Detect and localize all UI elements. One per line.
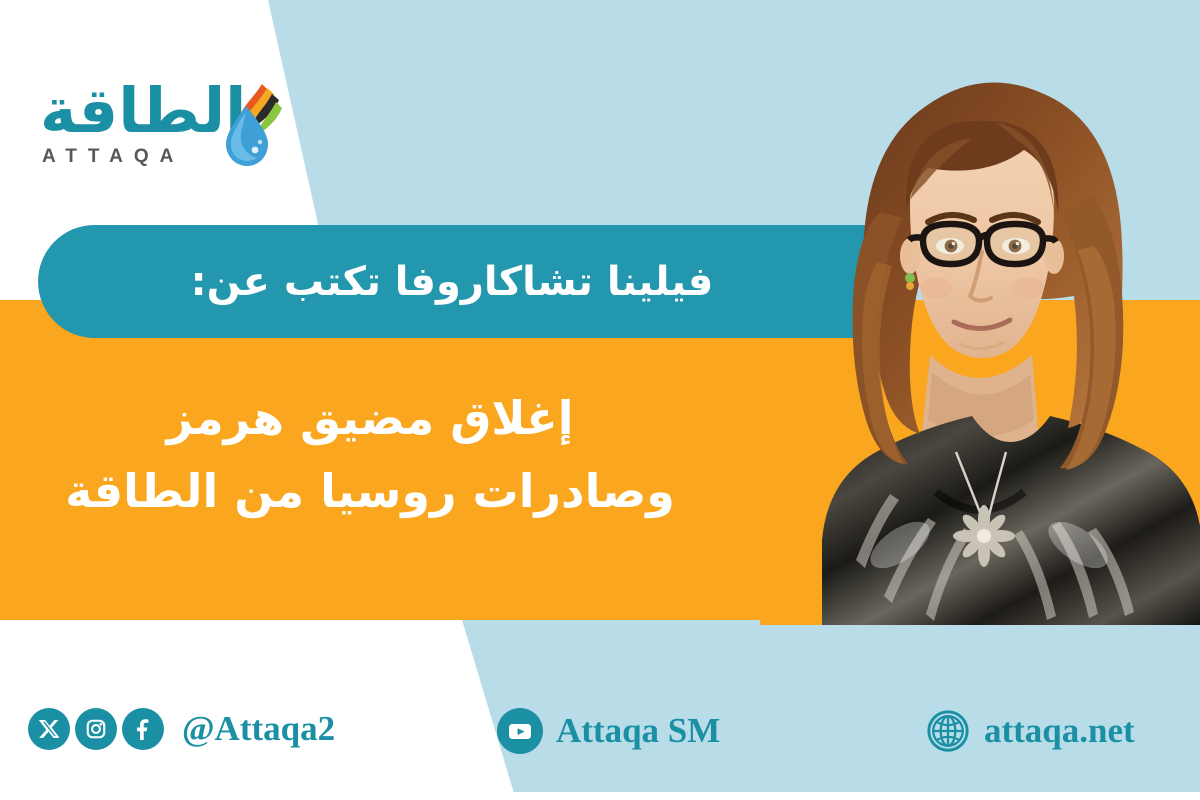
social-media-card: الطاقة ATTAQA فيلينا تشاكاروفا تكتب عن: …	[0, 0, 1200, 800]
logo-latin-subtitle: ATTAQA	[42, 146, 184, 168]
headline: إغلاق مضيق هرمز وصادرات روسيا من الطاقة	[40, 382, 700, 527]
headline-line-1: إغلاق مضيق هرمز	[40, 382, 700, 455]
footer-website-group[interactable]: attaqa.net	[925, 708, 1135, 754]
instagram-icon[interactable]	[75, 708, 117, 750]
portrait-photo	[760, 0, 1200, 625]
bottom-white-strip	[0, 792, 1200, 800]
facebook-glyph	[132, 718, 154, 740]
portrait-illustration	[760, 0, 1200, 625]
attaqa-logo[interactable]: الطاقة ATTAQA	[26, 78, 286, 178]
facebook-icon[interactable]	[122, 708, 164, 750]
youtube-icon[interactable]	[497, 708, 543, 754]
website-label[interactable]: attaqa.net	[984, 711, 1135, 751]
youtube-glyph	[506, 717, 534, 745]
instagram-glyph	[85, 718, 107, 740]
footer-youtube-group[interactable]: Attaqa SM	[497, 708, 720, 754]
x-twitter-glyph	[38, 718, 60, 740]
headline-line-2: وصادرات روسيا من الطاقة	[40, 455, 700, 528]
logo-arabic-wordmark: الطاقة	[40, 80, 246, 142]
footer-bar: @Attaqa2 Attaqa SM attaqa.net	[0, 690, 1200, 790]
x-twitter-icon[interactable]	[28, 708, 70, 750]
youtube-label[interactable]: Attaqa SM	[556, 711, 720, 751]
globe-icon[interactable]	[925, 708, 971, 754]
social-handle-label[interactable]: @Attaqa2	[182, 709, 335, 749]
footer-social-group[interactable]: @Attaqa2	[28, 708, 335, 750]
flame-water-drop-icon	[222, 82, 286, 170]
